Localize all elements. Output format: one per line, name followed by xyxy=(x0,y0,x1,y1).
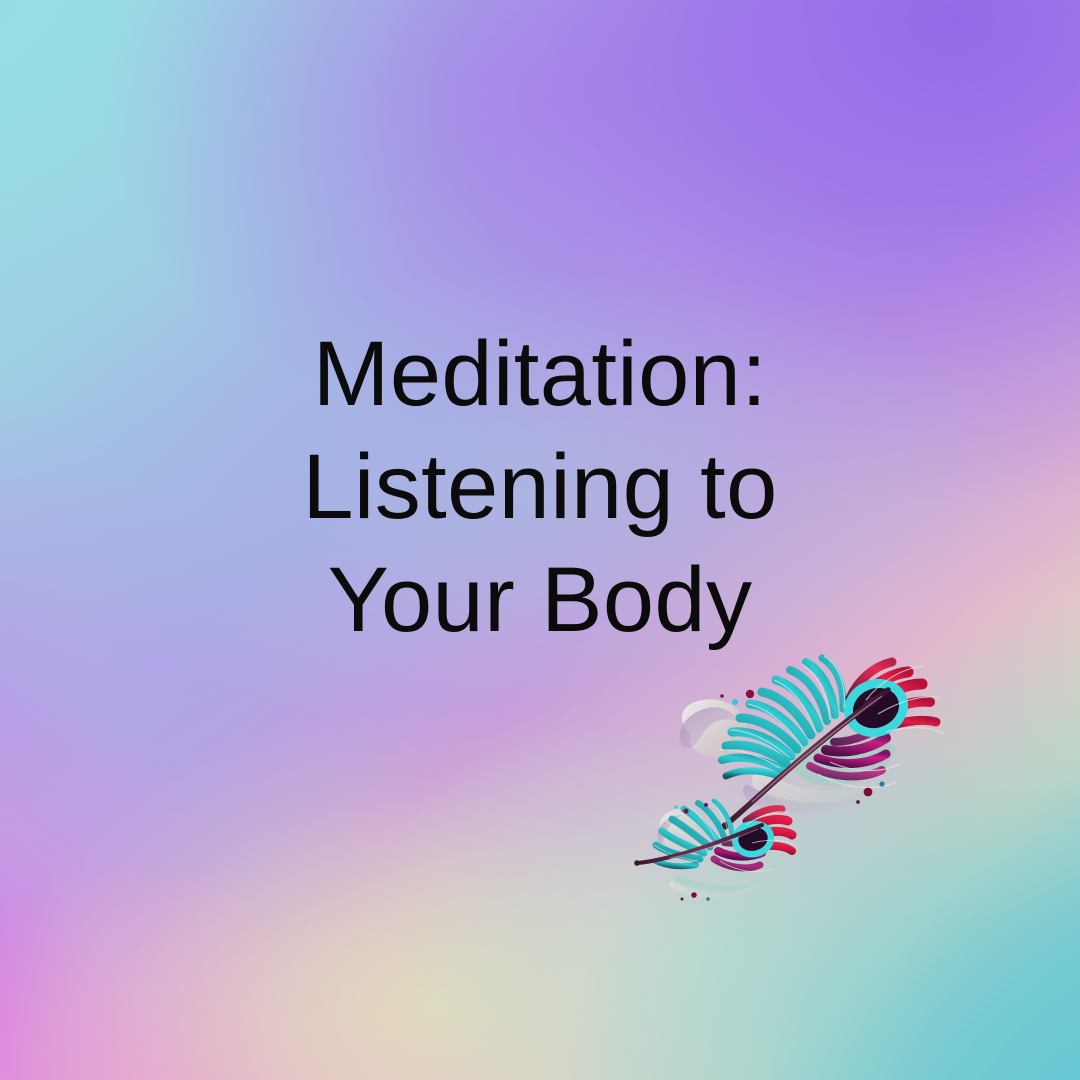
title-line-1: Meditation: xyxy=(0,318,1080,431)
title-line-2: Listening to xyxy=(0,431,1080,544)
page-title: Meditation: Listening to Your Body xyxy=(0,318,1080,657)
title-line-3: Your Body xyxy=(0,544,1080,657)
poster-canvas: Meditation: Listening to Your Body xyxy=(0,0,1080,1080)
